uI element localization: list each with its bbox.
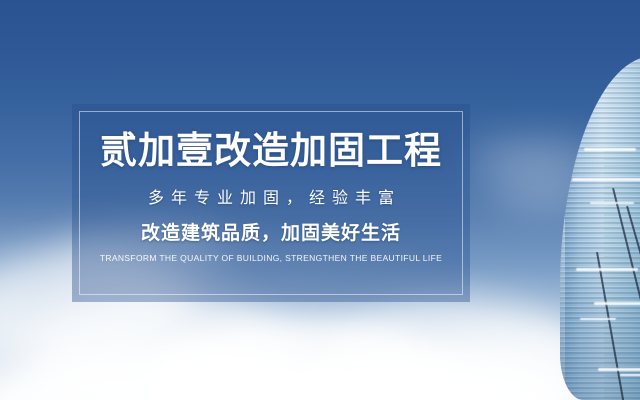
curved-glass-skyscraper bbox=[560, 56, 640, 400]
building-highlight-streak bbox=[572, 178, 640, 181]
banner-tagline: 改造建筑品质，加固美好生活 bbox=[141, 224, 401, 243]
skyscraper-container bbox=[500, 0, 640, 400]
building-highlight-streak bbox=[580, 318, 616, 320]
building-tint-overlay bbox=[560, 56, 640, 400]
building-rim-light bbox=[560, 56, 565, 400]
building-highlight-streak bbox=[594, 302, 640, 305]
headline-panel: 贰加壹改造加固工程 多年专业加固，经验丰富 改造建筑品质，加固美好生活 TRAN… bbox=[72, 104, 470, 302]
hero-banner: 贰加壹改造加固工程 多年专业加固，经验丰富 改造建筑品质，加固美好生活 TRAN… bbox=[0, 0, 640, 400]
building-highlight-streak bbox=[590, 202, 634, 204]
banner-title: 贰加壹改造加固工程 bbox=[100, 132, 442, 169]
banner-english-tagline: TRANSFORM THE QUALITY OF BUILDING, STREN… bbox=[100, 254, 442, 263]
building-highlight-streak bbox=[620, 374, 640, 376]
building-highlight-streak bbox=[598, 368, 640, 371]
building-highlight-streak bbox=[576, 268, 638, 271]
banner-subtitle: 多年专业加固，经验丰富 bbox=[141, 191, 401, 207]
panel-content: 贰加壹改造加固工程 多年专业加固，经验丰富 改造建筑品质，加固美好生活 TRAN… bbox=[72, 104, 470, 302]
building-highlight-streak bbox=[584, 148, 636, 151]
